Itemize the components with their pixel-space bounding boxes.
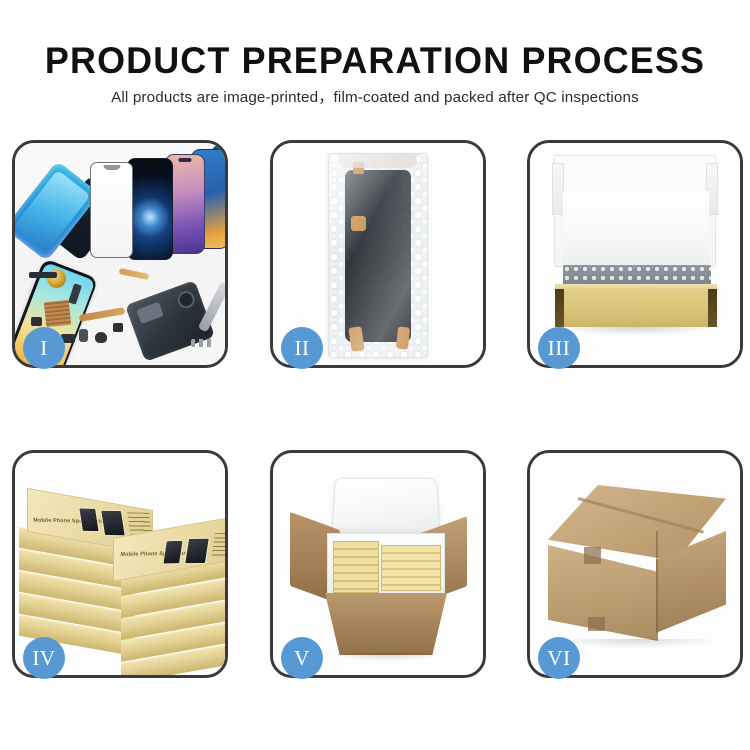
carton-front-icon (325, 593, 447, 655)
kraft-box-front-icon (555, 289, 717, 327)
box-label-spec-lines (211, 533, 225, 558)
step-badge-5: V (281, 637, 323, 679)
chip-grid-icon (44, 300, 71, 327)
carton-tape-patch-icon (588, 617, 605, 631)
step-badge-6: VI (538, 637, 580, 679)
bag-fold-icon (339, 154, 417, 168)
process-step-card-1[interactable]: I (12, 140, 228, 368)
packed-retail-boxes-icon (333, 541, 379, 593)
step-badge-3: III (538, 327, 580, 369)
process-step-card-4[interactable]: Mobile Phone Spare Parts Mobile Phone Sp… (12, 450, 228, 678)
process-step-card-6[interactable]: VI (527, 450, 743, 678)
process-step-card-2[interactable]: II (270, 140, 486, 368)
box-label-product-image (184, 538, 210, 565)
process-step-grid: I II III (0, 0, 750, 750)
wrapped-lcd-part-icon (345, 170, 411, 342)
step-badge-2: II (281, 327, 323, 369)
small-part-icon (95, 332, 107, 343)
phone-front-glass-icon (90, 162, 133, 258)
flex-cable-icon (396, 326, 410, 349)
flex-cable-icon (351, 216, 366, 231)
box-label-product-image (100, 510, 126, 537)
carton-tape-patch-icon (584, 547, 601, 564)
carton-corner-edge-icon (656, 531, 658, 633)
process-step-card-3[interactable]: III (527, 140, 743, 368)
small-part-icon (113, 323, 123, 332)
drop-shadow (560, 327, 712, 335)
step-badge-4: IV (23, 637, 65, 679)
foam-sheet-icon (563, 191, 709, 267)
small-part-icon (31, 317, 42, 326)
process-step-card-5[interactable]: V (270, 450, 486, 678)
flex-connector-icon (119, 268, 150, 280)
step-badge-1: I (23, 327, 65, 369)
drop-shadow (558, 639, 716, 648)
bubble-wrap-bag-icon (328, 153, 428, 358)
flex-strip-icon (29, 272, 57, 278)
drop-shadow (329, 653, 445, 661)
phone-display-black-icon (127, 158, 173, 260)
box-label-product-image (162, 540, 184, 565)
screws-icon (191, 339, 213, 347)
box-label-product-image (78, 507, 100, 532)
packed-retail-boxes-icon (381, 545, 441, 591)
small-part-icon (79, 329, 88, 342)
